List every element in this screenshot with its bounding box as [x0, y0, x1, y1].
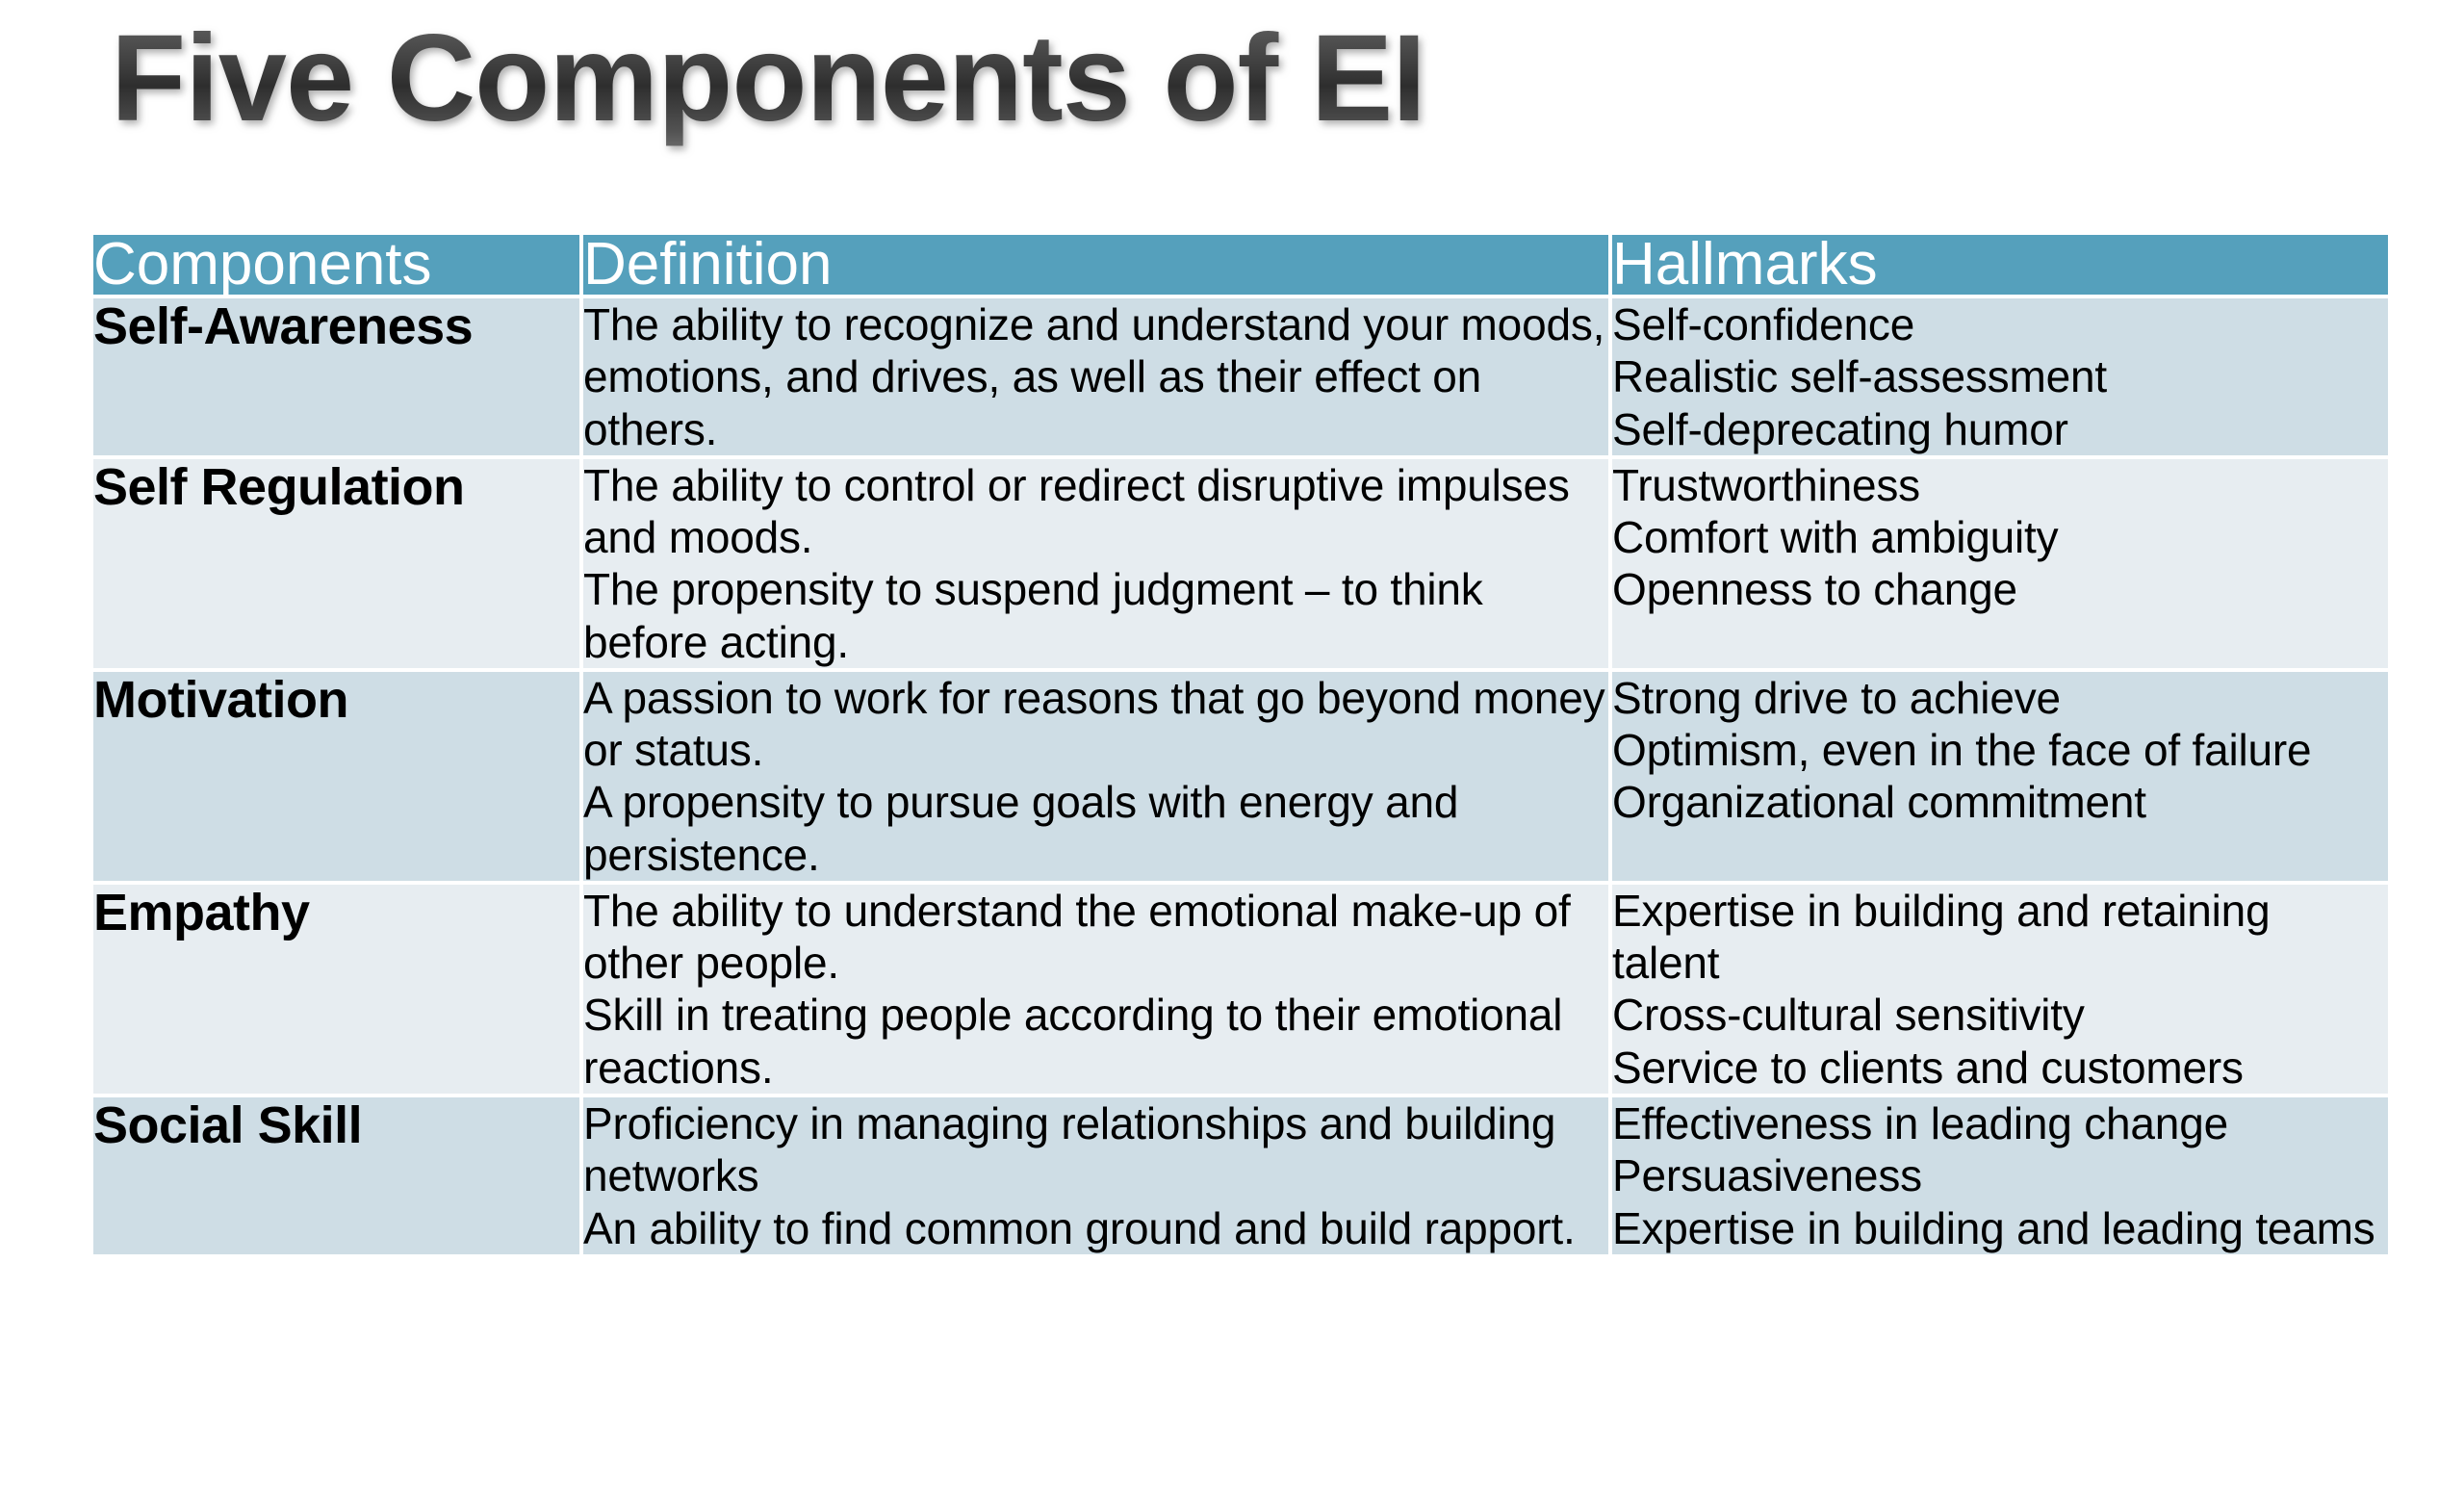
column-header-definition: Definition — [583, 235, 1608, 295]
hallmark-item: Self-confidence — [1612, 298, 2388, 350]
table-body: Self-Awareness The ability to recognize … — [93, 298, 2388, 1254]
hallmark-item: Expertise in building and retaining tale… — [1612, 885, 2388, 990]
hallmark-item: Persuasiveness — [1612, 1149, 2388, 1201]
table-header: Components Definition Hallmarks — [93, 235, 2388, 295]
definition-line: Proficiency in managing relationships an… — [583, 1097, 1608, 1202]
cell-component: Self-Awareness — [93, 298, 579, 455]
cell-definition: Proficiency in managing relationships an… — [583, 1097, 1608, 1254]
cell-component: Social Skill — [93, 1097, 579, 1254]
definition-line: The ability to control or redirect disru… — [583, 459, 1608, 564]
table-row: Self-Awareness The ability to recognize … — [93, 298, 2388, 455]
definition-line: The propensity to suspend judgment – to … — [583, 563, 1608, 668]
table-row: Social Skill Proficiency in managing rel… — [93, 1097, 2388, 1254]
definition-line: A propensity to pursue goals with energy… — [583, 776, 1608, 881]
cell-definition: The ability to control or redirect disru… — [583, 459, 1608, 668]
page-title: Five Components of EI — [111, 6, 1425, 151]
column-header-hallmarks: Hallmarks — [1612, 235, 2388, 295]
cell-component: Empathy — [93, 885, 579, 1094]
definition-line: The ability to understand the emotional … — [583, 885, 1608, 990]
cell-definition: The ability to understand the emotional … — [583, 885, 1608, 1094]
hallmark-item: Optimism, even in the face of failure — [1612, 724, 2388, 776]
cell-hallmarks: Self-confidence Realistic self-assessmen… — [1612, 298, 2388, 455]
cell-component: Self Regulation — [93, 459, 579, 668]
slide-canvas: Five Components of EI Components Definit… — [0, 0, 2464, 1495]
hallmark-item: Realistic self-assessment — [1612, 350, 2388, 402]
column-header-components: Components — [93, 235, 579, 295]
hallmark-item: Expertise in building and leading teams — [1612, 1202, 2388, 1254]
hallmark-item: Organizational commitment — [1612, 776, 2388, 828]
definition-line: The ability to recognize and understand … — [583, 298, 1608, 455]
hallmark-item: Trustworthiness — [1612, 459, 2388, 511]
cell-hallmarks: Expertise in building and retaining tale… — [1612, 885, 2388, 1094]
definition-line: Skill in treating people according to th… — [583, 989, 1608, 1094]
cell-definition: The ability to recognize and understand … — [583, 298, 1608, 455]
definition-line: An ability to find common ground and bui… — [583, 1202, 1608, 1254]
hallmark-item: Openness to change — [1612, 563, 2388, 615]
hallmark-item: Cross-cultural sensitivity — [1612, 989, 2388, 1041]
definition-line: A passion to work for reasons that go be… — [583, 672, 1608, 777]
hallmark-item: Service to clients and customers — [1612, 1042, 2388, 1094]
cell-hallmarks: Effectiveness in leading change Persuasi… — [1612, 1097, 2388, 1254]
table-row: Self Regulation The ability to control o… — [93, 459, 2388, 668]
table-row: Empathy The ability to understand the em… — [93, 885, 2388, 1094]
table-header-row: Components Definition Hallmarks — [93, 235, 2388, 295]
hallmark-item: Comfort with ambiguity — [1612, 511, 2388, 563]
hallmark-item: Effectiveness in leading change — [1612, 1097, 2388, 1149]
cell-hallmarks: Strong drive to achieve Optimism, even i… — [1612, 672, 2388, 881]
cell-definition: A passion to work for reasons that go be… — [583, 672, 1608, 881]
cell-component: Motivation — [93, 672, 579, 881]
cell-hallmarks: Trustworthiness Comfort with ambiguity O… — [1612, 459, 2388, 668]
table-row: Motivation A passion to work for reasons… — [93, 672, 2388, 881]
hallmark-item: Self-deprecating humor — [1612, 403, 2388, 455]
ei-components-table: Components Definition Hallmarks Self-Awa… — [90, 231, 2392, 1258]
hallmark-item: Strong drive to achieve — [1612, 672, 2388, 724]
